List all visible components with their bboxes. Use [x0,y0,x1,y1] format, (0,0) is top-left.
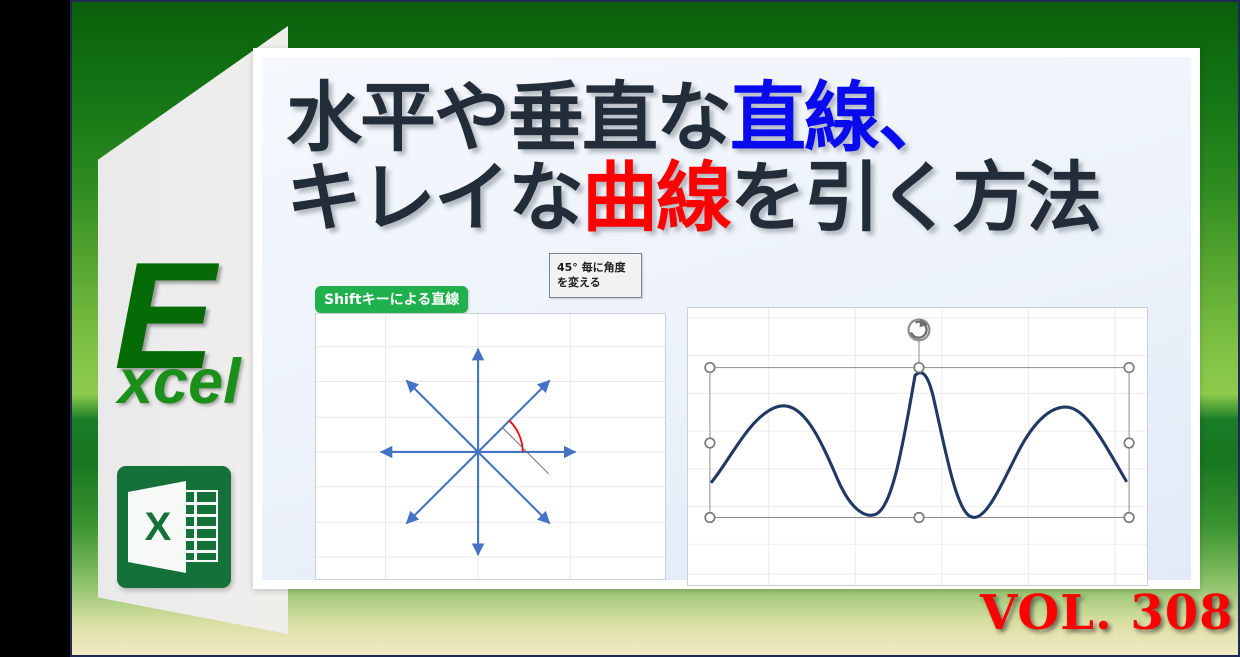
right-pane-svg [688,308,1147,585]
shift-key-straight-lines-pane [315,313,666,580]
resize-handle-top-center [914,363,924,373]
freeform-curve-path [712,373,1126,518]
title-line-1-post: 、 [878,73,952,162]
rotation-handle [909,319,930,340]
radial-arrows [381,349,576,555]
resize-handle-bottom-left [705,513,715,523]
gridlines [316,314,665,579]
resize-handles [705,363,1134,522]
title-line-1-highlight: 直線 [730,73,878,162]
excel-logo-text-xcel: xcel [118,351,241,414]
content-card-inner: 水平や垂直な直線、 キレイな曲線を引く方法 Shiftキーによる直線 [262,57,1191,580]
title-line-1-pre: 水平や垂直な [286,73,730,162]
title-line-2-post: を引く方法 [730,153,1100,242]
callout-line-1: 45° 毎に角度 [557,260,641,275]
resize-handle-top-right [1124,363,1134,373]
freeform-curve-pane [687,307,1148,586]
resize-handle-bottom-center [914,513,924,523]
excel-app-icon: X [117,466,231,588]
page-title: 水平や垂直な直線、 キレイな曲線を引く方法 [286,75,1181,241]
left-black-gutter [0,0,70,657]
youtube-thumbnail-canvas: E xcel X 水平や垂直な直線、 キレイな曲線を引く方法 Shiftキーによ… [0,0,1240,657]
callout-line-2: を変える [557,275,641,290]
resize-handle-middle-left [705,438,715,448]
resize-handle-top-left [705,363,715,373]
excel-icon-spreadsheet-grid [172,490,218,562]
title-line-2: キレイな曲線を引く方法 [286,155,1181,241]
callout-box: 45° 毎に角度 を変える [549,253,642,298]
gridlines [688,308,1147,585]
left-pane-svg [316,314,665,579]
title-line-2-pre: キレイな [286,153,582,242]
title-line-1: 水平や垂直な直線、 [286,75,1181,161]
title-line-2-highlight: 曲線 [582,153,730,242]
resize-handle-middle-right [1124,438,1134,448]
resize-handle-bottom-right [1124,513,1134,523]
content-card: 水平や垂直な直線、 キレイな曲線を引く方法 Shiftキーによる直線 [253,48,1200,589]
volume-label: VOL. 308 [980,585,1234,641]
status-badge: Shiftキーによる直線 [315,286,468,313]
